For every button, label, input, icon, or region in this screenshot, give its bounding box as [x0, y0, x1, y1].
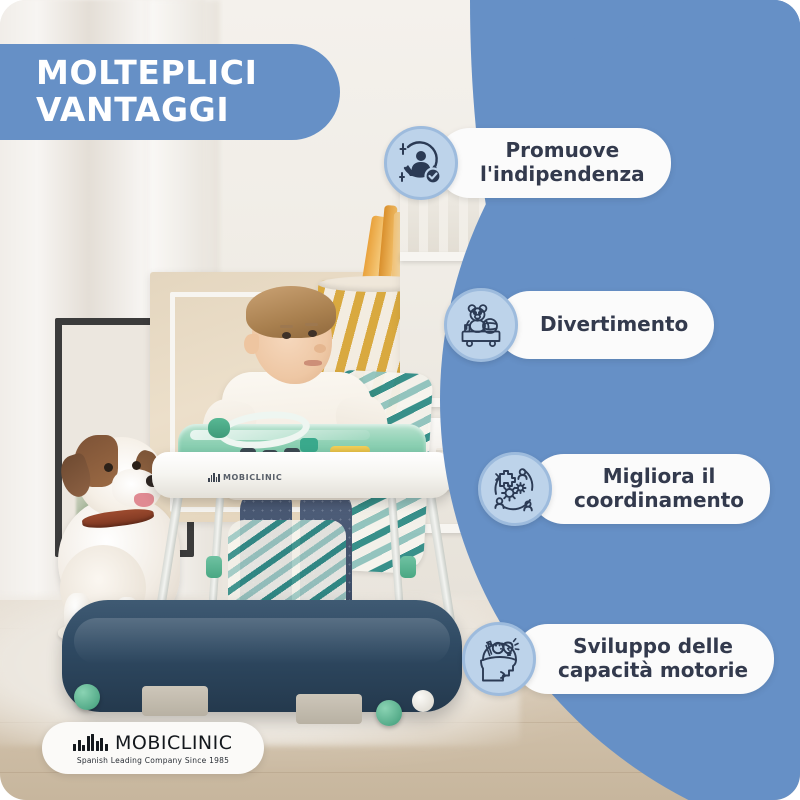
walker-base-highlight: [74, 618, 450, 664]
feature-label-independence: Promuove l'indipendenza: [436, 128, 671, 197]
baby-eyebrow: [305, 323, 318, 326]
feature-item-motor-skills[interactable]: Sviluppo delle capacità motorie: [462, 622, 774, 696]
feature-label-line2: l'indipendenza: [480, 162, 645, 186]
page-title-line1: MOLTEPLICI: [36, 53, 258, 92]
baby-eye: [308, 330, 317, 337]
brand-logo-tagline: Spanish Leading Company Since 1985: [77, 756, 229, 765]
feature-label-motor-skills: Sviluppo delle capacità motorie: [514, 624, 774, 693]
feature-label-line2: coordinamento: [574, 488, 744, 512]
box-knob: [470, 428, 477, 435]
feature-label-line1: Migliora il: [603, 464, 716, 488]
walker-button-teal: [300, 438, 318, 452]
equalizer-bars-icon: [73, 734, 108, 751]
brand-logo-name: MOBICLINIC: [115, 732, 233, 754]
baby-nose: [314, 344, 326, 353]
page-title: MOLTEPLICI VANTAGGI: [36, 55, 258, 129]
infographic-canvas: MOBICLINIC MOLTEPL: [0, 0, 800, 800]
teddy-bear-toy-box-icon: [444, 288, 518, 362]
walker-tray-logo: MOBICLINIC: [208, 468, 328, 486]
feature-item-independence[interactable]: Promuove l'indipendenza: [384, 126, 671, 200]
baby-ear: [244, 334, 259, 354]
walker-leg-clip: [206, 556, 222, 578]
walker-wheel: [412, 690, 434, 712]
walker-knob: [208, 418, 230, 438]
walker-tray-brand: MOBICLINIC: [223, 473, 282, 482]
feature-label-fun: Divertimento: [496, 291, 714, 359]
person-raised-arms-check-icon: [384, 126, 458, 200]
feature-label-line1: Promuove: [505, 138, 619, 162]
dog-eye: [132, 461, 141, 470]
feature-item-coordination[interactable]: Migliora il coordinamento: [478, 452, 770, 526]
walker-wheel: [376, 700, 402, 726]
page-title-line2: VANTAGGI: [36, 90, 229, 129]
walker-base-pad: [296, 694, 362, 724]
brand-logo-row: MOBICLINIC: [73, 732, 232, 754]
baby-eyebrow: [280, 325, 293, 328]
box-knob: [456, 428, 463, 435]
baby-eye: [282, 332, 291, 339]
head-creativity-lightbulb-icon: [462, 622, 536, 696]
feature-label-line1: Sviluppo delle: [573, 634, 733, 658]
walker-base-pad: [142, 686, 208, 716]
feature-label-line2: capacità motorie: [558, 658, 748, 682]
feature-item-fun[interactable]: Divertimento: [444, 288, 714, 362]
baby-mouth: [304, 360, 322, 366]
dog-tongue: [134, 493, 154, 507]
dog-eye: [104, 463, 113, 472]
walker-tray-logo-mark: [208, 473, 220, 482]
title-banner: MOLTEPLICI VANTAGGI: [0, 44, 340, 140]
walker-leg-clip: [400, 556, 416, 578]
feature-label-line1: Divertimento: [540, 313, 688, 337]
brand-logo[interactable]: MOBICLINIC Spanish Leading Company Since…: [42, 722, 264, 774]
walker-wheel: [74, 684, 100, 710]
feature-label-coordination: Migliora il coordinamento: [530, 454, 770, 523]
baby-hair: [246, 286, 336, 338]
gears-people-coordination-icon: [478, 452, 552, 526]
